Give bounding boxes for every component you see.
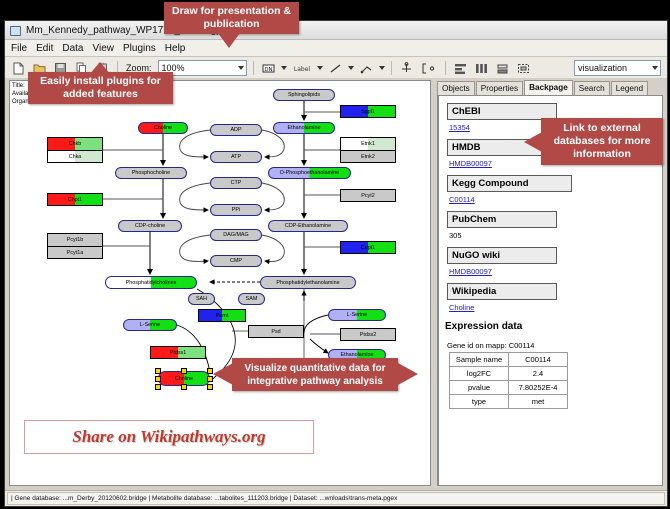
node-phosphatidylcholines[interactable]: Phosphatidylcholines [105,276,197,289]
exp-val-pvalue: 7.80252E-4 [509,381,568,395]
datanode-icon[interactable]: DN [260,60,277,77]
toolbar-separator [391,61,392,75]
svg-text:DN: DN [264,66,272,72]
anchor-icon[interactable] [398,60,415,77]
gene-pcyt2[interactable]: Pcyt2 [340,189,396,202]
tab-properties[interactable]: Properties [476,81,523,95]
gene-sgpl1[interactable]: Sgpl1 [340,105,396,118]
node-phosphocholine[interactable]: Phosphocholine [115,167,187,179]
chevron-down-icon [652,66,658,70]
line-icon[interactable] [327,60,344,77]
exp-val-log2fc: 2.4 [509,367,568,381]
visualization-combo[interactable]: visualization [574,60,661,76]
exp-key-log2fc: log2FC [450,367,509,381]
exp-key-sample-name: Sample name [450,353,509,367]
gene-chkb[interactable]: Chkb [48,138,102,150]
panel-tabs: Objects Properties Backpage Search Legen… [433,80,663,95]
node-sah[interactable]: SAH [188,293,215,305]
menu-bar: File Edit Data View Plugins Help [5,40,667,57]
order-icon[interactable] [494,60,511,77]
tab-objects[interactable]: Objects [437,81,475,95]
callout-plugins-arrow-icon [89,62,111,75]
table-row: type met [450,395,568,409]
toolbar-separator [253,61,254,75]
node-l-serine-left[interactable]: L-Serine [123,319,177,331]
node-o-phosphoethanolamine[interactable]: O-Phosphoethanolamine [268,167,351,179]
callout-visualize-arrow-right-icon [398,363,418,385]
menu-item-view[interactable]: View [92,43,114,54]
db-header-nugo-wiki: NuGO wiki [447,247,557,264]
app-icon [9,24,21,36]
line-dropdown-icon[interactable] [348,66,354,70]
distribute-icon[interactable] [473,60,490,77]
callout-install-plugins: Easily install plugins for added feature… [28,72,173,104]
db-value-pubchem: 305 [449,231,662,240]
menu-item-data[interactable]: Data [62,43,83,54]
chevron-down-icon [238,66,244,70]
title-bar: Mm_Kennedy_pathway_WP1771_45176.gpml [5,21,667,40]
gene-group-chk[interactable]: Chkb Chka [47,137,103,163]
menu-item-edit[interactable]: Edit [36,43,53,54]
node-sphingolipids[interactable]: Sphingolipids [273,89,335,101]
new-icon[interactable] [10,60,27,77]
screenshot-root: Mm_Kennedy_pathway_WP1771_45176.gpml Fil… [0,0,670,509]
callout-share-on-wikipathways: Share on Wikipathways.org [24,420,314,454]
selection-handle-n[interactable] [181,368,187,374]
callout-draw-arrow-icon [218,33,240,48]
gene-psd[interactable]: Psd [248,325,304,338]
expression-data-heading: Expression data [445,321,662,332]
callout-link-external-databases: Link to external databases for more info… [541,118,663,165]
callout-visualize-arrow-left-icon [213,363,233,385]
node-dag-mag[interactable]: DAG/MAG [210,229,262,241]
gene-ptdss2[interactable]: Ptdss2 [340,328,396,341]
db-header-wikipedia: Wikipedia [447,283,557,300]
gene-cept1[interactable]: Cept1 [340,241,396,254]
menu-item-help[interactable]: Help [165,43,186,54]
node-choline-top[interactable]: Choline [138,122,188,134]
gene-pemt[interactable]: Pemt [198,309,246,322]
bracket-icon[interactable] [419,60,439,77]
pathway-info-title: Title: [12,83,25,91]
node-adp[interactable]: ADP [210,124,262,136]
exp-val-type: met [509,395,568,409]
status-bar: | Gene database: ...m_Derby_20120602.bri… [5,490,667,506]
gene-etnk2[interactable]: Etnk2 [341,150,395,162]
expression-table: Sample name C00114 log2FC 2.4 pvalue 7.8… [449,352,568,409]
gene-pcyt1b[interactable]: Pcyt1b [48,234,102,246]
gene-chka[interactable]: Chka [48,150,102,162]
gene-chpt1[interactable]: Chpt1 [47,193,103,206]
datanode-dropdown-icon[interactable] [281,66,287,70]
node-phosphatidylethanolamine[interactable]: Phosphatidylethanolamine [260,276,356,289]
callout-visualize-quantitative-data: Visualize quantitative data for integrat… [232,358,398,391]
table-row: Sample name C00114 [450,353,568,367]
exp-key-type: type [450,395,509,409]
menu-item-file[interactable]: File [11,43,27,54]
exp-key-pvalue: pvalue [450,381,509,395]
visualization-value: visualization [578,63,627,73]
selection-handle-sw[interactable] [155,384,161,390]
status-text: | Gene database: ...m_Derby_20120602.bri… [7,492,665,505]
node-atp[interactable]: ATP [210,151,262,163]
label-dropdown-icon[interactable] [317,66,323,70]
tab-backpage[interactable]: Backpage [524,80,573,95]
table-row: log2FC 2.4 [450,367,568,381]
arrow-icon[interactable] [358,60,375,77]
label-icon[interactable]: Label [291,60,313,77]
node-cdp-choline[interactable]: CDP-choline [118,220,182,232]
table-row: pvalue 7.80252E-4 [450,381,568,395]
gene-ptdss1[interactable]: Ptdss1 [150,346,206,359]
node-sam[interactable]: SAM [238,293,265,305]
node-ethanolamine-top[interactable]: Ethanolamine [273,122,335,134]
db-header-kegg-compound: Kegg Compound [447,175,572,192]
node-cmp[interactable]: CMP [210,255,262,267]
gene-etnk1[interactable]: Etnk1 [341,138,395,150]
db-link-wikipedia[interactable]: Choline [449,303,662,312]
align-icon[interactable] [452,60,469,77]
share-text: Share on Wikipathways.org [72,427,265,447]
selection-handle-w[interactable] [155,376,161,382]
selection-handle-s[interactable] [181,384,187,390]
gene-id-on-mapp: Gene id on mapp: C00114 [447,341,662,350]
node-ctp[interactable]: CTP [210,177,262,189]
toolbar-separator [445,61,446,75]
db-link-kegg-compound[interactable]: C00114 [449,195,662,204]
pathway-info-availability: Availa [12,91,28,99]
node-l-serine-right[interactable]: L-Serine [328,309,386,321]
node-ppi[interactable]: PPi [210,204,262,216]
svg-text:Label: Label [293,66,310,73]
selection-handle-nw[interactable] [155,368,161,374]
tab-search[interactable]: Search [574,81,610,95]
callout-draw-for-presentation: Draw for presentation & publication [164,2,299,34]
node-cdp-ethanolamine[interactable]: CDP-Ethanolamine [268,220,348,232]
gene-group-etnk[interactable]: Etnk1 Etnk2 [340,137,396,163]
db-header-pubchem: PubChem [447,211,557,228]
group-icon[interactable] [515,60,532,77]
arrow-dropdown-icon[interactable] [379,66,385,70]
db-link-nugo-wiki[interactable]: HMDB00097 [449,267,662,276]
exp-val-sample-name: C00114 [509,353,568,367]
gene-pcyt1a[interactable]: Pcyt1a [48,246,102,258]
tab-legend[interactable]: Legend [611,81,648,95]
gene-group-pcyt1[interactable]: Pcyt1b Pcyt1a [47,233,103,259]
callout-link-arrow-icon [524,132,542,152]
menu-item-plugins[interactable]: Plugins [123,43,156,54]
